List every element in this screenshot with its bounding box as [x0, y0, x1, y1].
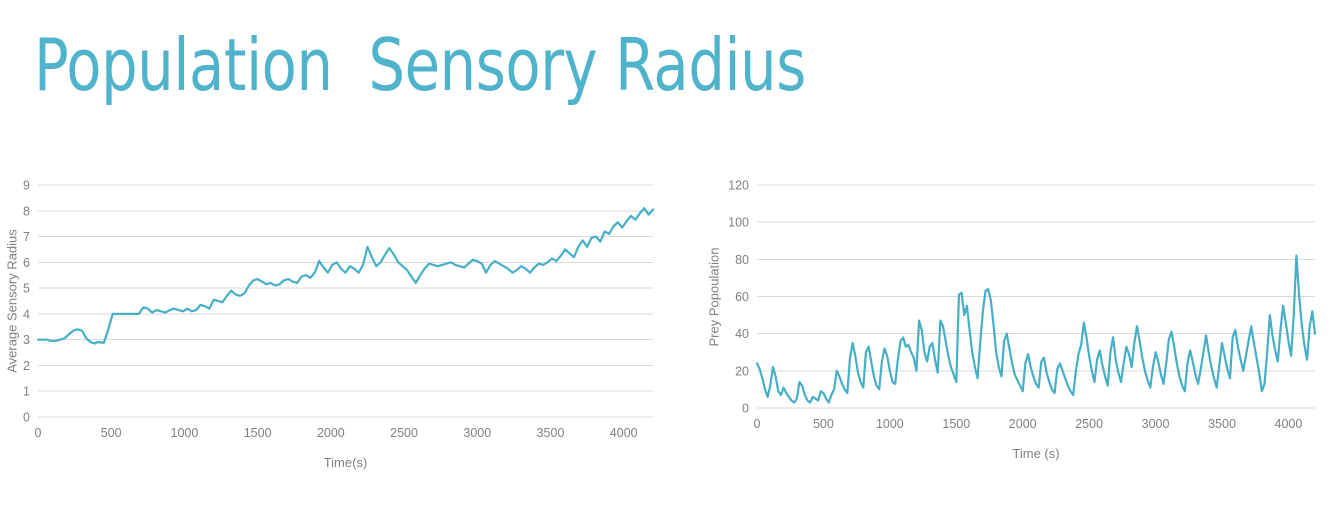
y-tick-label: 8: [23, 204, 30, 218]
y-tick-label: 100: [728, 216, 749, 230]
x-tick-label: 500: [101, 426, 122, 440]
x-tick-label: 1000: [876, 417, 904, 431]
y-tick-label: 3: [23, 333, 30, 347]
y-tick-label: 60: [735, 290, 749, 304]
page-title: Population Sensory Radius: [34, 17, 806, 113]
x-tick-label: 0: [754, 417, 761, 431]
slide-canvas: Population Sensory Radius Average Sensor…: [0, 0, 1343, 505]
y-tick-label: 1: [23, 385, 30, 399]
y-tick-label: 20: [735, 364, 749, 378]
x-tick-label: 1500: [244, 426, 272, 440]
y-tick-label: 80: [735, 253, 749, 267]
x-tick-label: 3000: [463, 426, 491, 440]
y-tick-label: 120: [728, 179, 749, 193]
x-tick-label: 2500: [1075, 417, 1103, 431]
y-tick-label: 0: [742, 402, 749, 416]
x-tick-label: 500: [813, 417, 834, 431]
x-tick-label: 2500: [390, 426, 418, 440]
chart-plot-left: 0123456789050010001500200025003000350040…: [0, 160, 680, 490]
y-tick-label: 2: [23, 359, 30, 373]
y-tick-label: 9: [23, 179, 30, 193]
y-tick-label: 0: [23, 411, 30, 425]
y-tick-label: 40: [735, 327, 749, 341]
chart-prey-population: Prey Popoulation Time (s) 02040608010012…: [690, 160, 1343, 490]
x-tick-label: 2000: [1009, 417, 1037, 431]
x-tick-label: 4000: [610, 426, 638, 440]
chart-sensory-radius: Average Sensory Radius Time(s) 012345678…: [0, 160, 680, 490]
x-tick-label: 2000: [317, 426, 345, 440]
data-series-line: [757, 256, 1315, 403]
y-tick-label: 5: [23, 282, 30, 296]
x-tick-label: 3000: [1142, 417, 1170, 431]
x-tick-label: 3500: [1208, 417, 1236, 431]
x-tick-label: 0: [35, 426, 42, 440]
x-tick-label: 1500: [942, 417, 970, 431]
x-tick-label: 4000: [1275, 417, 1303, 431]
y-tick-label: 7: [23, 230, 30, 244]
data-series-line: [38, 208, 653, 343]
y-tick-label: 4: [23, 307, 30, 321]
y-tick-label: 6: [23, 256, 30, 270]
x-tick-label: 1000: [171, 426, 199, 440]
chart-plot-right: 0204060801001200500100015002000250030003…: [690, 160, 1343, 490]
x-tick-label: 3500: [537, 426, 565, 440]
